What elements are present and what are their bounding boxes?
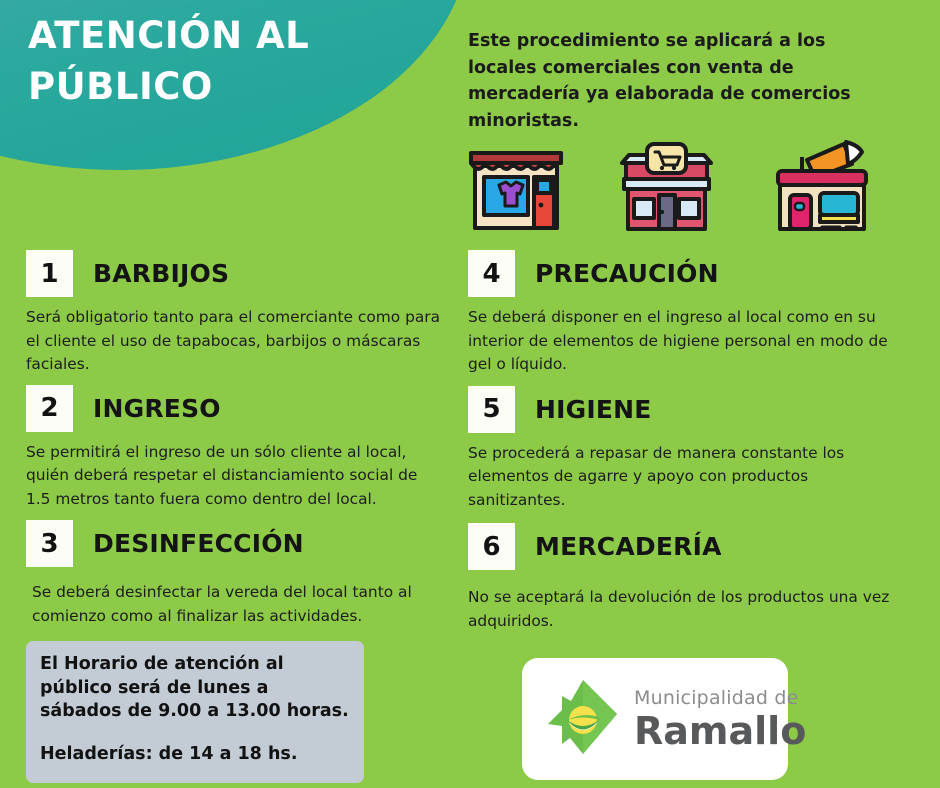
- item-header: 6 MERCADERÍA: [468, 523, 908, 570]
- item-header: 2 INGRESO: [26, 385, 446, 432]
- list-item: 3 DESINFECCIÓN Se deberá desinfectar la …: [26, 520, 446, 628]
- item-number-badge: 2: [26, 385, 73, 432]
- logo-bottom-text: Ramallo: [634, 712, 806, 750]
- poster-canvas: ATENCIÓN AL PÚBLICO Este procedimiento s…: [0, 0, 940, 788]
- item-number-badge: 6: [468, 523, 515, 570]
- list-item: 4 PRECAUCIÓN Se deberá disponer en el in…: [468, 250, 908, 377]
- list-item: 2 INGRESO Se permitirá el ingreso de un …: [26, 385, 446, 512]
- supermarket-store-icon: [614, 133, 719, 233]
- item-body: Se deberá disponer en el ingreso al loca…: [468, 306, 908, 377]
- logo-wordmark: Municipalidad de Ramallo: [634, 689, 806, 750]
- intro-paragraph: Este procedimiento se aplicará a los loc…: [468, 28, 888, 134]
- clothing-store-icon: [466, 133, 566, 233]
- item-body: Será obligatorio tanto para el comercian…: [26, 306, 446, 377]
- item-body: Se procederá a repasar de manera constan…: [468, 442, 908, 513]
- schedule-box: El Horario de atención al público será d…: [26, 641, 364, 783]
- items-column-right: 4 PRECAUCIÓN Se deberá disponer en el in…: [468, 250, 908, 634]
- item-number-badge: 5: [468, 386, 515, 433]
- item-title: MERCADERÍA: [535, 532, 722, 561]
- item-body: No se aceptará la devolución de los prod…: [468, 586, 908, 633]
- item-title: DESINFECCIÓN: [93, 529, 304, 558]
- item-title: INGRESO: [93, 394, 221, 423]
- shop-announcement-icon: [766, 133, 878, 238]
- list-item: 6 MERCADERÍA No se aceptará la devolució…: [468, 523, 908, 633]
- item-body: Se deberá desinfectar la vereda del loca…: [32, 581, 446, 628]
- item-header: 3 DESINFECCIÓN: [26, 520, 446, 567]
- item-number-badge: 3: [26, 520, 73, 567]
- item-number-badge: 1: [26, 250, 73, 297]
- item-body: Se permitirá el ingreso de un sólo clien…: [26, 441, 446, 512]
- list-item: 5 HIGIENE Se procederá a repasar de mane…: [468, 386, 908, 513]
- ramallo-logo-mark-icon: [540, 676, 626, 762]
- item-title: HIGIENE: [535, 395, 652, 424]
- store-icons-row: [466, 133, 886, 243]
- item-number-badge: 4: [468, 250, 515, 297]
- item-title: BARBIJOS: [93, 259, 229, 288]
- municipality-logo-card: Municipalidad de Ramallo: [522, 658, 788, 780]
- list-item: 1 BARBIJOS Será obligatorio tanto para e…: [26, 250, 446, 377]
- items-column-left: 1 BARBIJOS Será obligatorio tanto para e…: [26, 250, 446, 629]
- item-header: 4 PRECAUCIÓN: [468, 250, 908, 297]
- schedule-line-hours: El Horario de atención al público será d…: [40, 653, 350, 724]
- logo-top-text: Municipalidad de: [634, 689, 806, 708]
- item-title: PRECAUCIÓN: [535, 259, 719, 288]
- item-header: 1 BARBIJOS: [26, 250, 446, 297]
- schedule-line-icecream: Heladerías: de 14 a 18 hs.: [40, 743, 350, 767]
- page-title: ATENCIÓN AL PÚBLICO: [28, 10, 408, 112]
- item-header: 5 HIGIENE: [468, 386, 908, 433]
